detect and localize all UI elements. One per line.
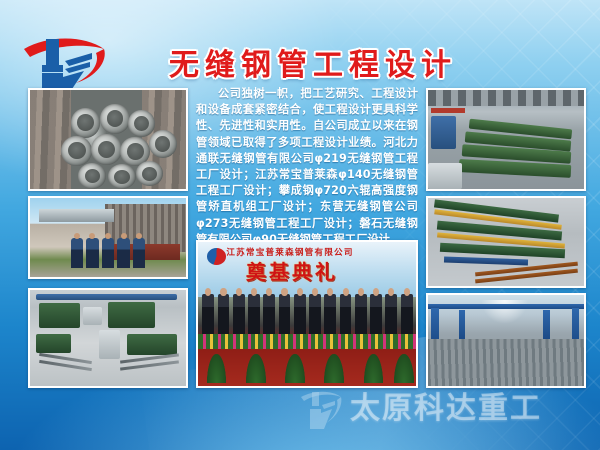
- photo-gate[interactable]: [28, 196, 188, 279]
- ceremony-crowd: [198, 294, 416, 337]
- photo-ceremony[interactable]: 江苏常宝普莱森钢管有限公司 奠基典礼: [196, 240, 418, 388]
- photo-hall[interactable]: [426, 293, 586, 388]
- watermark-logo-icon: [300, 389, 342, 429]
- ceremony-headline: 奠基典礼: [246, 262, 372, 294]
- photo-yard-image: [30, 290, 186, 386]
- photo-pipes[interactable]: [28, 88, 188, 191]
- watermark: 太原科达重工: [300, 386, 590, 432]
- company-logo-icon: [22, 33, 108, 89]
- slide-canvas: 无缝钢管工程设计 公司独树一帜，把工艺研究、工程设计和设备成套紧密结合，使工程设…: [0, 0, 600, 450]
- body-paragraph: 公司独树一帜，把工艺研究、工程设计和设备成套紧密结合，使工程设计更具科学性、先进…: [196, 86, 418, 232]
- photo-rollers-image: [428, 198, 584, 286]
- photo-workshop-image: [428, 90, 584, 189]
- photo-pipes-image: [30, 90, 186, 189]
- pipe-ends-cluster: [30, 90, 186, 189]
- watermark-text: 太原科达重工: [350, 389, 542, 429]
- company-logo[interactable]: [22, 33, 108, 89]
- photo-hall-image: [428, 295, 584, 386]
- photo-ceremony-image: 江苏常宝普莱森钢管有限公司 奠基典礼: [198, 242, 416, 386]
- photo-yard[interactable]: [28, 288, 188, 388]
- photo-rollers[interactable]: [426, 196, 586, 288]
- photo-workshop[interactable]: [426, 88, 586, 191]
- page-title: 无缝钢管工程设计: [138, 46, 488, 86]
- photo-gate-image: [30, 198, 186, 277]
